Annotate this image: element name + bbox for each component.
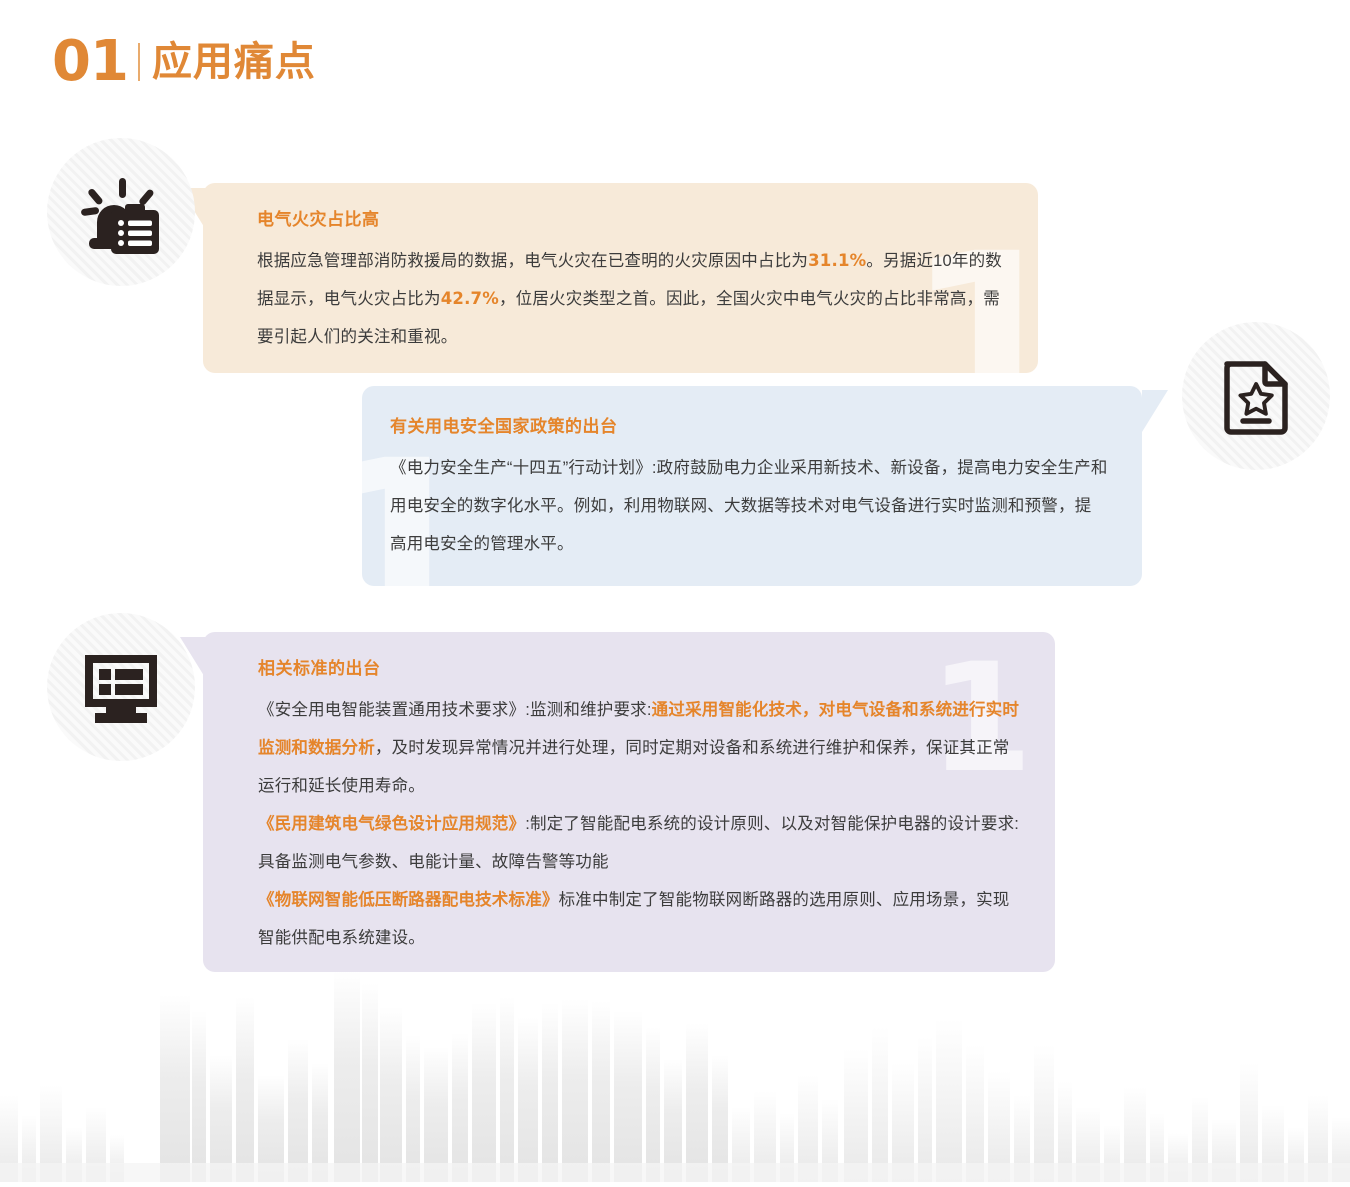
card-body-2: 《电力安全生产“十四五”行动计划》:政府鼓励电力企业采用新技术、新设备，提高电力…: [390, 449, 1108, 563]
alarm-clipboard-icon: [47, 138, 195, 286]
monitor-dashboard-icon: [47, 613, 195, 761]
bubble-tail-2: [1142, 390, 1168, 432]
certificate-document-icon: [1182, 322, 1330, 470]
title-divider: [138, 43, 140, 81]
standard-name-2: 《民用建筑电气绿色设计应用规范》: [258, 815, 525, 833]
pain-point-card-1: 1 电气火灾占比高 根据应急管理部消防救援局的数据，电气火灾在已查明的火灾原因中…: [203, 183, 1038, 373]
standard-name-3: 《物联网智能低压断路器配电技术标准》: [258, 891, 559, 909]
city-skyline-watermark: [0, 967, 1350, 1182]
card-body-3: 《安全用电智能装置通用技术要求》:监测和维护要求:通过采用智能化技术，对电气设备…: [258, 691, 1025, 957]
section-number: 01: [52, 34, 128, 90]
stat-value-1: 31.1%: [808, 251, 866, 270]
card-title-2: 有关用电安全国家政策的出台: [390, 412, 1108, 437]
pain-point-card-3: 1 相关标准的出台 《安全用电智能装置通用技术要求》:监测和维护要求:通过采用智…: [203, 632, 1055, 972]
section-title: 应用痛点: [152, 40, 316, 84]
card-body-1: 根据应急管理部消防救援局的数据，电气火灾在已查明的火灾原因中占比为31.1%。另…: [257, 242, 1004, 356]
pain-point-card-2: 1 有关用电安全国家政策的出台 《电力安全生产“十四五”行动计划》:政府鼓励电力…: [362, 386, 1142, 586]
card-title-1: 电气火灾占比高: [257, 205, 1004, 230]
stat-value-2: 42.7%: [441, 289, 499, 308]
page-title: 01 应用痛点: [52, 34, 316, 90]
body-text: 《安全用电智能装置通用技术要求》:监测和维护要求:: [258, 701, 652, 719]
body-text: 根据应急管理部消防救援局的数据，电气火灾在已查明的火灾原因中占比为: [257, 252, 808, 270]
card-title-3: 相关标准的出台: [258, 654, 1025, 679]
